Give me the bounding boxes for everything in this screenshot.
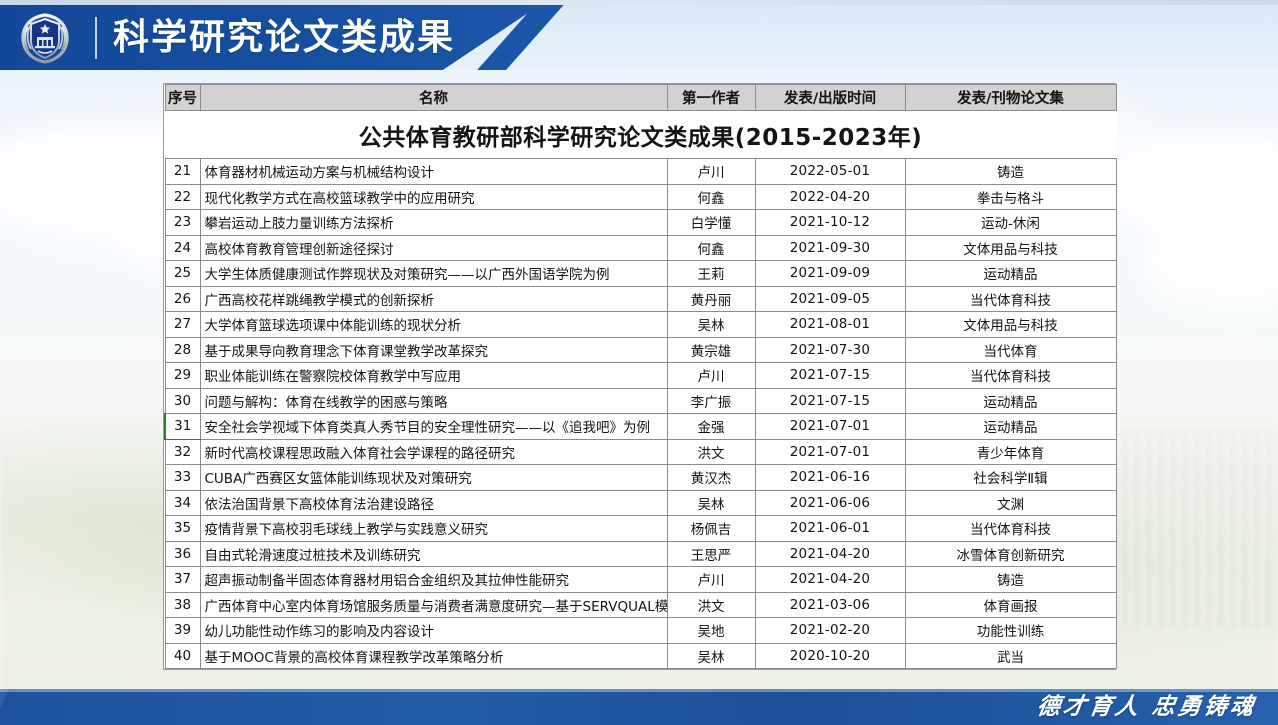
- table-header: 序号 名称 第一作者 发表/出版时间 发表/刊物论文集: [165, 85, 1116, 111]
- table-row[interactable]: 32新时代高校课程思政融入体育社会学课程的路径研究洪文2021-07-01青少年…: [165, 439, 1116, 465]
- cell-title[interactable]: 高校体育教育管理创新途径探讨: [200, 235, 667, 261]
- cell-pub[interactable]: 拳击与格斗: [905, 184, 1116, 210]
- cell-author[interactable]: 何鑫: [667, 235, 755, 261]
- cell-no[interactable]: 30: [165, 388, 200, 414]
- table-row[interactable]: 21体育器材机械运动方案与机械结构设计卢川2022-05-01铸造: [165, 159, 1116, 185]
- cell-date[interactable]: 2021-06-01: [755, 516, 905, 542]
- cell-author[interactable]: 何鑫: [667, 184, 755, 210]
- cell-title[interactable]: 广西体育中心室内体育场馆服务质量与消费者满意度研究—基于SERVQUAL模型: [200, 592, 667, 618]
- cell-date[interactable]: 2021-07-15: [755, 363, 905, 389]
- cell-date[interactable]: 2021-07-15: [755, 388, 905, 414]
- cell-pub[interactable]: 当代体育科技: [905, 363, 1116, 389]
- table-row[interactable]: 29职业体能训练在警察院校体育教学中写应用卢川2021-07-15当代体育科技: [165, 363, 1116, 389]
- slide-canvas: 科学研究论文类成果 公共体育教研部科学研究论文类成果(2015-2023年) 序…: [0, 0, 1278, 725]
- cell-author[interactable]: 黄丹丽: [667, 286, 755, 312]
- cell-title[interactable]: 问题与解构：体育在线教学的困惑与策略: [200, 388, 667, 414]
- cell-title[interactable]: 超声振动制备半固态体育器材用铝合金组织及其拉伸性能研究: [200, 567, 667, 593]
- cell-date[interactable]: 2021-10-12: [755, 210, 905, 236]
- cell-title[interactable]: 基于成果导向教育理念下体育课堂教学改革探究: [200, 337, 667, 363]
- cell-author[interactable]: 杨佩吉: [667, 516, 755, 542]
- table-row[interactable]: 27大学体育篮球选项课中体能训练的现状分析吴林2021-08-01文体用品与科技: [165, 312, 1116, 338]
- table-row[interactable]: 30问题与解构：体育在线教学的困惑与策略李广振2021-07-15运动精品: [165, 388, 1116, 414]
- cell-pub[interactable]: 社会科学Ⅱ辑: [905, 465, 1116, 491]
- cell-title[interactable]: 基于MOOC背景的高校体育课程教学改革策略分析: [200, 643, 667, 669]
- slide-footer-bar: 德才育人 忠勇铸魂: [0, 689, 1278, 725]
- cell-title[interactable]: 疫情背景下高校羽毛球线上教学与实践意义研究: [200, 516, 667, 542]
- cell-no[interactable]: 34: [165, 490, 200, 516]
- cell-date[interactable]: 2022-05-01: [755, 159, 905, 185]
- column-header-title[interactable]: 名称: [200, 85, 667, 111]
- results-table-panel: 公共体育教研部科学研究论文类成果(2015-2023年) 序号 名称 第一作者 …: [163, 83, 1116, 670]
- cell-no[interactable]: 23: [165, 210, 200, 236]
- page-title: 科学研究论文类成果: [113, 13, 455, 63]
- cell-no[interactable]: 32: [165, 439, 200, 465]
- cell-no[interactable]: 31: [165, 414, 200, 440]
- cell-title[interactable]: 体育器材机械运动方案与机械结构设计: [200, 159, 667, 185]
- column-header-no[interactable]: 序号: [165, 85, 200, 111]
- footer-motto: 德才育人 忠勇铸魂: [1035, 690, 1259, 724]
- cell-pub[interactable]: 青少年体育: [905, 439, 1116, 465]
- cell-date[interactable]: 2021-09-30: [755, 235, 905, 261]
- cell-author[interactable]: 金强: [667, 414, 755, 440]
- cell-date[interactable]: 2021-07-01: [755, 439, 905, 465]
- cell-no[interactable]: 29: [165, 363, 200, 389]
- cell-no[interactable]: 21: [165, 159, 200, 185]
- cell-pub[interactable]: 运动精品: [905, 388, 1116, 414]
- table-row[interactable]: 22现代化教学方式在高校篮球教学中的应用研究何鑫2022-04-20拳击与格斗: [165, 184, 1116, 210]
- table-row[interactable]: 36自由式轮滑速度过桩技术及训练研究王思严2021-04-20冰雪体育创新研究: [165, 541, 1116, 567]
- cell-no[interactable]: 22: [165, 184, 200, 210]
- table-row[interactable]: 39幼儿功能性动作练习的影响及内容设计吴地2021-02-20功能性训练: [165, 618, 1116, 644]
- cell-pub[interactable]: 功能性训练: [905, 618, 1116, 644]
- cell-date[interactable]: 2021-06-16: [755, 465, 905, 491]
- cell-date[interactable]: 2021-09-05: [755, 286, 905, 312]
- cell-author[interactable]: 白学懂: [667, 210, 755, 236]
- cell-pub[interactable]: 文体用品与科技: [905, 235, 1116, 261]
- cell-author[interactable]: 吴林: [667, 643, 755, 669]
- cell-no[interactable]: 26: [165, 286, 200, 312]
- cell-date[interactable]: 2021-07-30: [755, 337, 905, 363]
- table-row[interactable]: 24高校体育教育管理创新途径探讨何鑫2021-09-30文体用品与科技: [165, 235, 1116, 261]
- cell-date[interactable]: 2021-09-09: [755, 261, 905, 287]
- cell-author[interactable]: 吴林: [667, 490, 755, 516]
- cell-title[interactable]: 广西高校花样跳绳教学模式的创新探析: [200, 286, 667, 312]
- cell-author[interactable]: 王思严: [667, 541, 755, 567]
- cell-date[interactable]: 2022-04-20: [755, 184, 905, 210]
- cell-author[interactable]: 王莉: [667, 261, 755, 287]
- column-header-author[interactable]: 第一作者: [667, 85, 755, 111]
- cell-pub[interactable]: 运动精品: [905, 261, 1116, 287]
- cell-no[interactable]: 39: [165, 618, 200, 644]
- cell-title[interactable]: 大学体育篮球选项课中体能训练的现状分析: [200, 312, 667, 338]
- table-row[interactable]: 33CUBA广西赛区女篮体能训练现状及对策研究黄汉杰2021-06-16社会科学…: [165, 465, 1116, 491]
- table-caption-row: 公共体育教研部科学研究论文类成果(2015-2023年): [165, 111, 1116, 159]
- table-row[interactable]: 25大学生体质健康测试作弊现状及对策研究——以广西外国语学院为例王莉2021-0…: [165, 261, 1116, 287]
- table-row[interactable]: 40基于MOOC背景的高校体育课程教学改革策略分析吴林2020-10-20武当: [165, 643, 1116, 669]
- cell-pub[interactable]: 冰雪体育创新研究: [905, 541, 1116, 567]
- table-row[interactable]: 38广西体育中心室内体育场馆服务质量与消费者满意度研究—基于SERVQUAL模型…: [165, 592, 1116, 618]
- cell-author[interactable]: 吴林: [667, 312, 755, 338]
- cell-no[interactable]: 38: [165, 592, 200, 618]
- cell-pub[interactable]: 文渊: [905, 490, 1116, 516]
- cell-no[interactable]: 25: [165, 261, 200, 287]
- table-row[interactable]: 34依法治国背景下高校体育法治建设路径吴林2021-06-06文渊: [165, 490, 1116, 516]
- cell-title[interactable]: 新时代高校课程思政融入体育社会学课程的路径研究: [200, 439, 667, 465]
- cell-date[interactable]: 2021-03-06: [755, 592, 905, 618]
- cell-title[interactable]: 依法治国背景下高校体育法治建设路径: [200, 490, 667, 516]
- cell-author[interactable]: 黄汉杰: [667, 465, 755, 491]
- cell-date[interactable]: 2021-02-20: [755, 618, 905, 644]
- cell-date[interactable]: 2021-06-06: [755, 490, 905, 516]
- cell-author[interactable]: 卢川: [667, 567, 755, 593]
- research-papers-table: 公共体育教研部科学研究论文类成果(2015-2023年) 序号 名称 第一作者 …: [164, 84, 1117, 669]
- table-body: 21体育器材机械运动方案与机械结构设计卢川2022-05-01铸造22现代化教学…: [165, 159, 1116, 669]
- cell-pub[interactable]: 铸造: [905, 159, 1116, 185]
- cell-author[interactable]: 李广振: [667, 388, 755, 414]
- cell-title[interactable]: 职业体能训练在警察院校体育教学中写应用: [200, 363, 667, 389]
- table-row[interactable]: 31安全社会学视域下体育类真人秀节目的安全理性研究——以《追我吧》为例金强202…: [165, 414, 1116, 440]
- cell-no[interactable]: 28: [165, 337, 200, 363]
- cell-no[interactable]: 27: [165, 312, 200, 338]
- cell-pub[interactable]: 文体用品与科技: [905, 312, 1116, 338]
- cell-no[interactable]: 37: [165, 567, 200, 593]
- column-header-pub[interactable]: 发表/刊物论文集: [905, 85, 1116, 111]
- cell-title[interactable]: 大学生体质健康测试作弊现状及对策研究——以广西外国语学院为例: [200, 261, 667, 287]
- table-row[interactable]: 26广西高校花样跳绳教学模式的创新探析黄丹丽2021-09-05当代体育科技: [165, 286, 1116, 312]
- cell-title[interactable]: 自由式轮滑速度过桩技术及训练研究: [200, 541, 667, 567]
- cell-title[interactable]: 幼儿功能性动作练习的影响及内容设计: [200, 618, 667, 644]
- table-row[interactable]: 35疫情背景下高校羽毛球线上教学与实践意义研究杨佩吉2021-06-01当代体育…: [165, 516, 1116, 542]
- police-academy-emblem-icon: [18, 11, 72, 65]
- table-row[interactable]: 28基于成果导向教育理念下体育课堂教学改革探究黄宗雄2021-07-30当代体育: [165, 337, 1116, 363]
- table-header-row: 序号 名称 第一作者 发表/出版时间 发表/刊物论文集: [165, 85, 1116, 111]
- cell-title[interactable]: CUBA广西赛区女篮体能训练现状及对策研究: [200, 465, 667, 491]
- cell-title[interactable]: 现代化教学方式在高校篮球教学中的应用研究: [200, 184, 667, 210]
- cell-author[interactable]: 卢川: [667, 363, 755, 389]
- table-row[interactable]: 37超声振动制备半固态体育器材用铝合金组织及其拉伸性能研究卢川2021-04-2…: [165, 567, 1116, 593]
- cell-no[interactable]: 36: [165, 541, 200, 567]
- table-row[interactable]: 23攀岩运动上肢力量训练方法探析白学懂2021-10-12运动-休闲: [165, 210, 1116, 236]
- cell-title[interactable]: 安全社会学视域下体育类真人秀节目的安全理性研究——以《追我吧》为例: [200, 414, 667, 440]
- cell-author[interactable]: 洪文: [667, 592, 755, 618]
- cell-no[interactable]: 24: [165, 235, 200, 261]
- cell-pub[interactable]: 铸造: [905, 567, 1116, 593]
- cell-author[interactable]: 吴地: [667, 618, 755, 644]
- cell-pub[interactable]: 武当: [905, 643, 1116, 669]
- cell-date[interactable]: 2020-10-20: [755, 643, 905, 669]
- cell-pub[interactable]: 当代体育: [905, 337, 1116, 363]
- cell-date[interactable]: 2021-04-20: [755, 567, 905, 593]
- cell-date[interactable]: 2021-08-01: [755, 312, 905, 338]
- cell-title[interactable]: 攀岩运动上肢力量训练方法探析: [200, 210, 667, 236]
- cell-pub[interactable]: 体育画报: [905, 592, 1116, 618]
- cell-date[interactable]: 2021-07-01: [755, 414, 905, 440]
- cell-author[interactable]: 洪文: [667, 439, 755, 465]
- cell-pub[interactable]: 当代体育科技: [905, 516, 1116, 542]
- cell-date[interactable]: 2021-04-20: [755, 541, 905, 567]
- cell-author[interactable]: 卢川: [667, 159, 755, 185]
- cell-pub[interactable]: 运动精品: [905, 414, 1116, 440]
- table-caption: 公共体育教研部科学研究论文类成果(2015-2023年): [165, 111, 1116, 159]
- slide-header: 科学研究论文类成果: [0, 5, 1278, 70]
- cell-no[interactable]: 33: [165, 465, 200, 491]
- cell-pub[interactable]: 当代体育科技: [905, 286, 1116, 312]
- column-header-date[interactable]: 发表/出版时间: [755, 85, 905, 111]
- header-divider: [95, 17, 97, 59]
- cell-no[interactable]: 35: [165, 516, 200, 542]
- cell-author[interactable]: 黄宗雄: [667, 337, 755, 363]
- cell-no[interactable]: 40: [165, 643, 200, 669]
- cell-pub[interactable]: 运动-休闲: [905, 210, 1116, 236]
